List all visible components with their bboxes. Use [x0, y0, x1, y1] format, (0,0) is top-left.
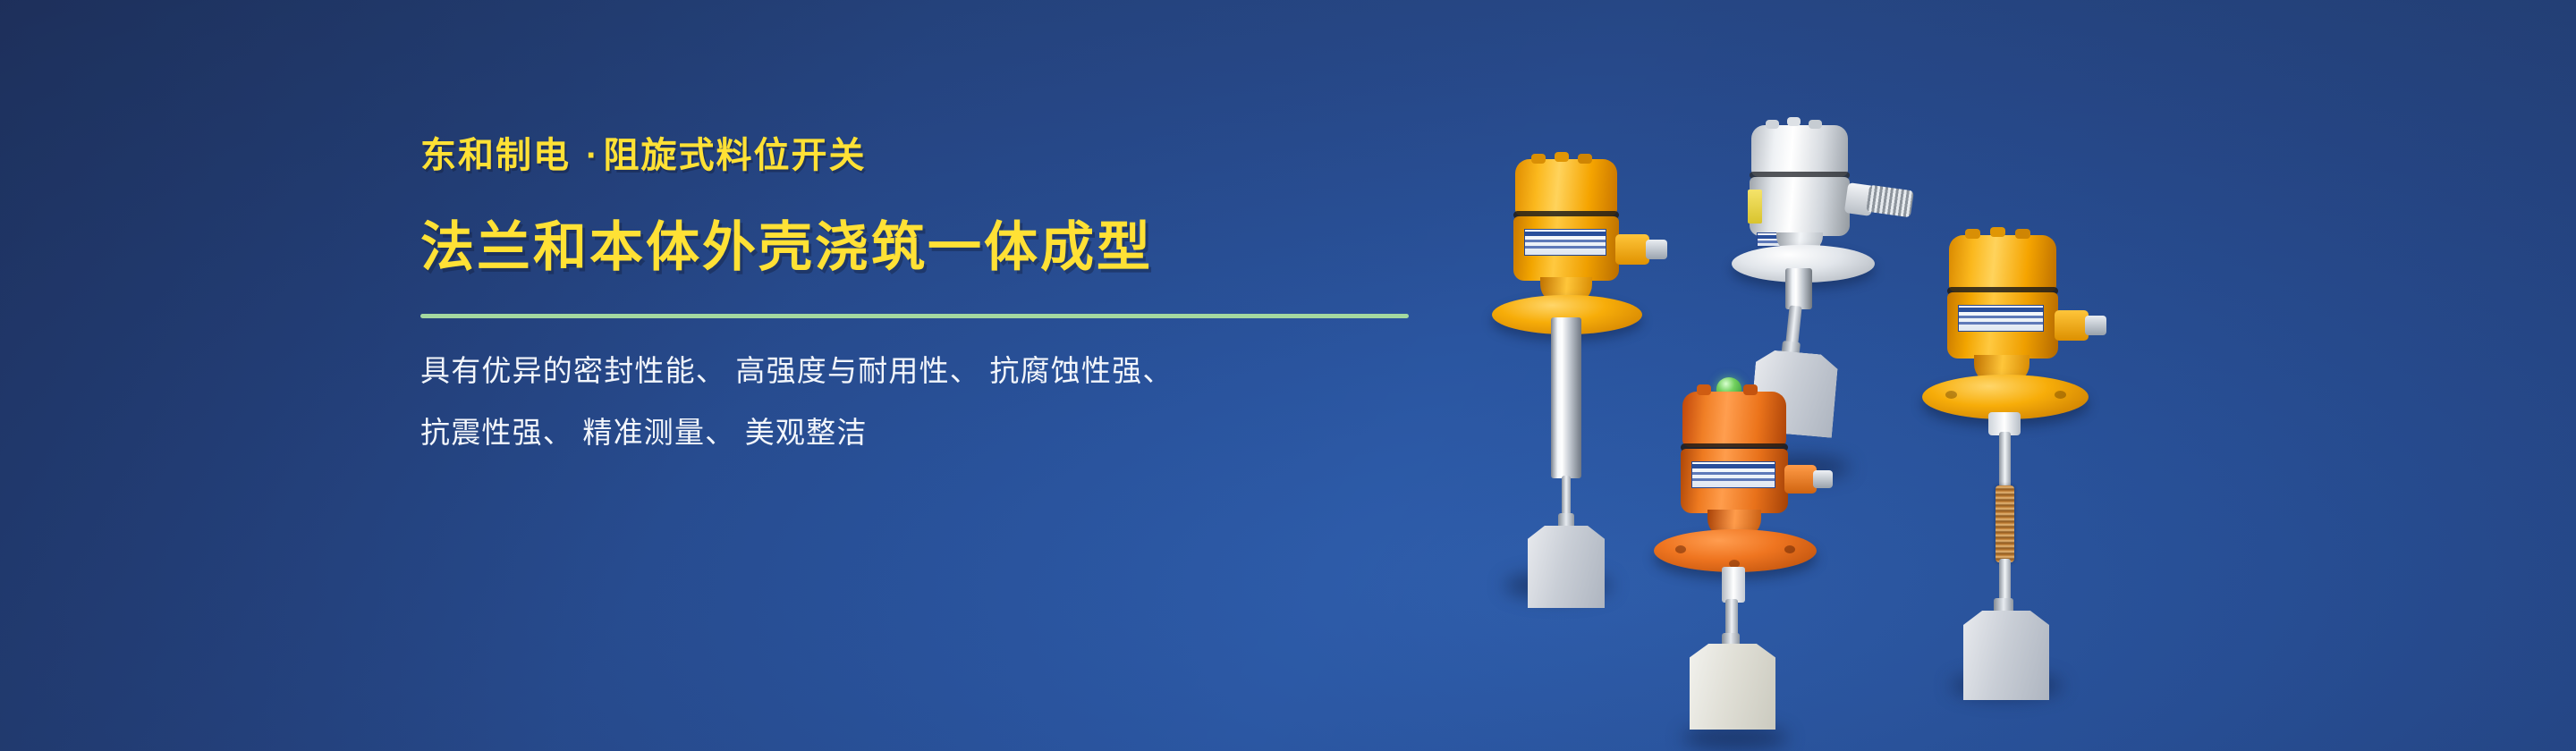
housing-cap-icon: [1949, 235, 2056, 292]
cap-bolt-icon: [1555, 152, 1569, 162]
product-nameplate: [1524, 229, 1606, 256]
feature-line: 具有优异的密封性能、 高强度与耐用性、 抗腐蚀性强、: [420, 356, 1476, 385]
flange-bolt-hole-icon: [1784, 545, 1795, 553]
cap-bolt-icon: [1990, 227, 2005, 237]
banner-eyebrow: 东和制电 ·阻旋式料位开关: [420, 134, 1476, 177]
feature-line: 抗震性强、 精准测量、 美观整洁: [420, 418, 1476, 447]
eyebrow-brand: 东和制电: [420, 136, 571, 175]
rotating-paddle: [1963, 611, 2049, 700]
banner-copy-block: 东和制电 ·阻旋式料位开关 法兰和本体外壳浇筑一体成型 具有优异的密封性能、 高…: [420, 134, 1476, 447]
banner-headline: 法兰和本体外壳浇筑一体成型: [420, 216, 1476, 278]
cable-gland-icon: [2055, 310, 2089, 341]
cable-gland-icon: [1784, 465, 1817, 494]
extension-rod: [1722, 567, 1745, 603]
warning-sticker: [1748, 190, 1762, 224]
feature-list: 具有优异的密封性能、 高强度与耐用性、 抗腐蚀性强、 抗震性强、 精准测量、 美…: [420, 356, 1476, 447]
connector-icon: [1646, 240, 1667, 259]
product-nameplate: [1691, 461, 1775, 488]
product-rotary-level-switch-orange: [1650, 375, 1874, 751]
flange-bolt-hole-icon: [1675, 545, 1686, 553]
cap-bolt-icon: [1531, 154, 1546, 164]
eyebrow-product: 阻旋式料位开关: [603, 136, 866, 175]
product-rotary-level-switch-yellow-springrod: [1919, 228, 2151, 747]
housing-cap-icon: [1751, 125, 1848, 177]
housing-cap-icon: [1515, 159, 1617, 216]
housing-body: [1750, 177, 1850, 236]
rotating-paddle: [1528, 526, 1605, 608]
extension-rod-upper: [1999, 432, 2011, 489]
cap-bolt-icon: [1578, 154, 1592, 164]
cap-bolt-icon: [1809, 120, 1822, 129]
connector-icon: [2085, 316, 2106, 335]
flange-bolt-hole-icon: [1945, 391, 1957, 399]
housing-cap-icon: [1682, 392, 1786, 447]
steel-connector-icon: [1866, 185, 1914, 218]
product-nameplate: [1958, 305, 2044, 332]
connector-icon: [1813, 470, 1833, 488]
cap-bolt-icon: [1743, 384, 1758, 395]
rotating-paddle: [1690, 644, 1775, 730]
cable-gland-icon: [1615, 234, 1649, 265]
divider-line: [420, 314, 1409, 318]
cap-bolt-icon: [1965, 229, 1980, 239]
hero-banner: 东和制电 ·阻旋式料位开关 法兰和本体外壳浇筑一体成型 具有优异的密封性能、 高…: [0, 0, 2576, 751]
spring-section: [1996, 485, 2014, 562]
cap-bolt-icon: [1766, 120, 1779, 129]
extension-rod: [1785, 268, 1812, 309]
eyebrow-separator: ·: [582, 136, 603, 175]
cap-bolt-icon: [1697, 384, 1711, 395]
product-image-cluster: [1467, 54, 2200, 697]
cap-bolt-icon: [2015, 229, 2030, 239]
cap-bolt-icon: [1787, 117, 1801, 126]
flange-bolt-hole-icon: [2055, 391, 2066, 399]
extension-rod: [1551, 317, 1581, 478]
